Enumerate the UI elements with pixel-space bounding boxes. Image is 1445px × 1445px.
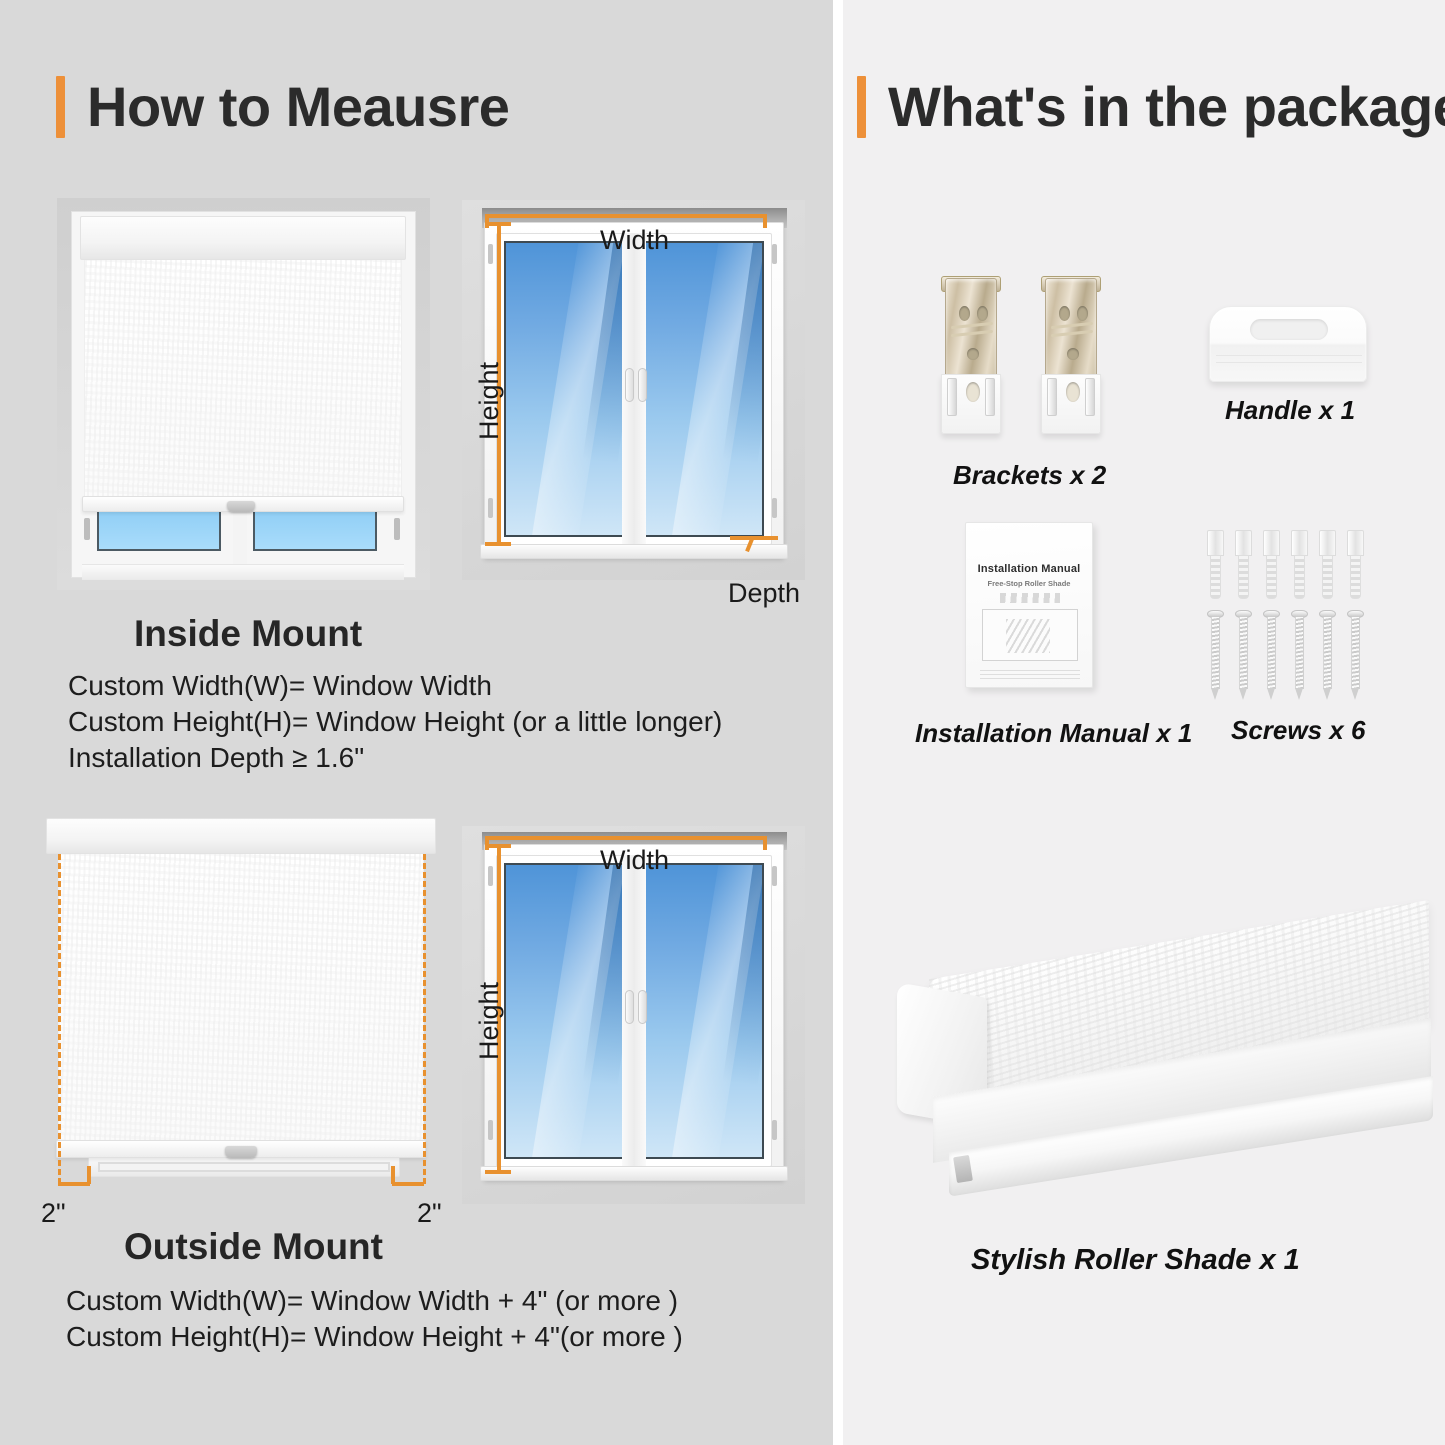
left-panel-heading: How to Meausre: [56, 74, 509, 139]
roller-shade-icon: [863, 880, 1433, 1210]
shade-pull-handle: [227, 501, 255, 512]
outside-shade-pull-handle: [225, 1146, 257, 1158]
window-handle-right: [638, 368, 647, 402]
inside-mount-line-2: Custom Height(H)= Window Height (or a li…: [68, 706, 722, 738]
roller-shade-label: Stylish Roller Shade x 1: [971, 1244, 1300, 1277]
window-handle-right-2: [638, 990, 647, 1024]
overhang-label-right: 2": [417, 1198, 442, 1229]
accent-bar-icon: [56, 76, 65, 138]
glass-pane-right: [644, 241, 764, 537]
label-width-inside: Width: [600, 225, 669, 256]
overhang-guide-left: [58, 854, 61, 1184]
outside-mount-measured-window: [462, 826, 805, 1204]
bracket-icon-2: [1039, 278, 1103, 436]
right-panel-heading: What's in the package: [857, 74, 1445, 139]
label-width-outside: Width: [600, 845, 669, 876]
glass-pane-left-2: [504, 863, 624, 1159]
bracket-icon: [939, 278, 1003, 436]
inside-mount-line-3: Installation Depth ≥ 1.6": [68, 742, 364, 774]
handle-icon: [1209, 306, 1367, 382]
inside-mount-line-1: Custom Width(W)= Window Width: [68, 670, 492, 702]
manual-label: Installation Manual x 1: [915, 718, 1192, 749]
handle-label: Handle x 1: [1225, 395, 1355, 426]
width-measure-line-2: [485, 836, 767, 840]
label-height-outside: Height: [474, 982, 505, 1060]
screws-label: Screws x 6: [1231, 715, 1365, 746]
inside-mount-title: Inside Mount: [134, 613, 362, 655]
accent-bar-icon-2: [857, 76, 866, 138]
left-heading-text: How to Meausre: [87, 74, 509, 139]
glass-pane-right-2: [644, 863, 764, 1159]
overhang-label-left: 2": [41, 1198, 66, 1229]
glass-pane-left: [504, 241, 624, 537]
manual-icon: Installation Manual Free-Stop Roller Sha…: [965, 522, 1093, 688]
manual-cover-subtitle: Free-Stop Roller Shade: [966, 579, 1092, 588]
shade-valance: [80, 216, 406, 260]
right-heading-text: What's in the package: [888, 74, 1445, 139]
label-height-inside: Height: [474, 362, 505, 440]
infographic-page: How to Meausre: [0, 0, 1445, 1445]
window-handle-left-2: [625, 990, 634, 1024]
outside-mount-line-1: Custom Width(W)= Window Width + 4" (or m…: [66, 1285, 678, 1317]
outside-mount-title: Outside Mount: [124, 1226, 383, 1268]
inside-mount-shade-illustration: [57, 198, 430, 590]
shade-fabric: [84, 260, 402, 499]
manual-cover-title: Installation Manual: [966, 563, 1092, 575]
package-contents-panel: What's in the package: [843, 0, 1445, 1445]
overhang-guide-right: [423, 854, 426, 1184]
outside-mount-line-2: Custom Height(H)= Window Height + 4"(or …: [66, 1321, 683, 1353]
outside-shade-valance: [46, 818, 436, 854]
window-handle-left: [625, 368, 634, 402]
how-to-measure-panel: How to Meausre: [0, 0, 833, 1445]
outside-shade-fabric: [58, 854, 424, 1142]
label-depth-inside: Depth: [728, 578, 800, 609]
width-measure-line: [485, 214, 767, 218]
panel-divider: [833, 0, 843, 1445]
inside-mount-measured-window: [462, 200, 805, 580]
outside-mount-shade-illustration: [40, 810, 448, 1202]
brackets-label: Brackets x 2: [953, 460, 1106, 491]
